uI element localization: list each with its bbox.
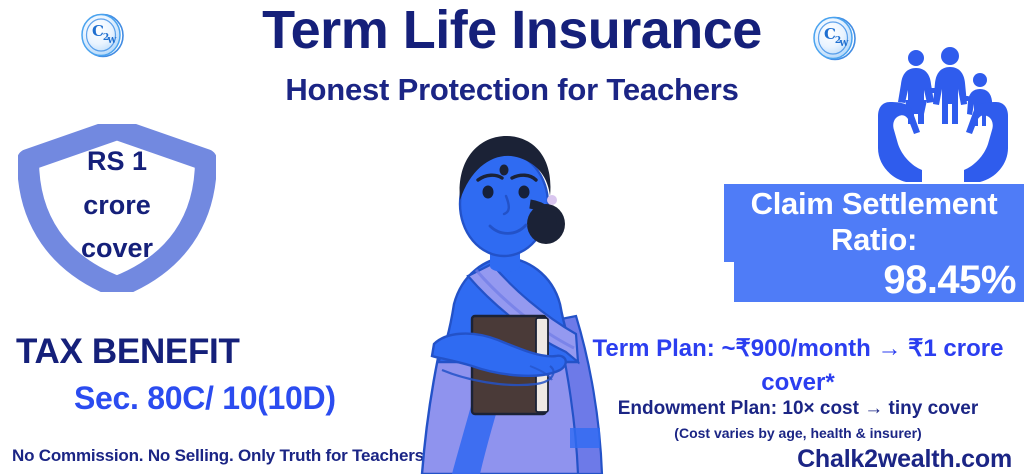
trust-tagline: No Commission. No Selling. Only Truth fo… bbox=[12, 446, 428, 466]
page-subtitle: Honest Protection for Teachers bbox=[0, 72, 1024, 108]
cover-line-3: cover bbox=[18, 227, 216, 271]
claim-settlement-label-line2: Ratio: bbox=[724, 222, 1024, 258]
chalk2wealth-logo-icon-secondary: C 2 W bbox=[808, 12, 860, 64]
cost-disclaimer-note: (Cost varies by age, health & insurer) bbox=[572, 425, 1024, 441]
cover-amount-badge: RS 1 crore cover bbox=[18, 124, 216, 292]
svg-text:W: W bbox=[107, 35, 118, 45]
cover-line-1: RS 1 bbox=[18, 140, 216, 184]
cover-line-2: crore bbox=[18, 184, 216, 228]
endowment-plan-statement: Endowment Plan: 10× cost → tiny cover bbox=[572, 398, 1024, 420]
family-in-hands-icon bbox=[872, 44, 1014, 184]
claim-settlement-label-line1: Claim Settlement bbox=[724, 186, 1024, 222]
cover-amount-text: RS 1 crore cover bbox=[18, 140, 216, 271]
claim-settlement-value: 98.45% bbox=[724, 258, 1016, 303]
tax-benefit-heading: TAX BENEFIT bbox=[16, 332, 356, 372]
poster-canvas: Term Life Insurance Honest Protection fo… bbox=[0, 0, 1024, 474]
svg-text:W: W bbox=[839, 38, 850, 48]
tax-benefit-section: Sec. 80C/ 10(10D) bbox=[74, 380, 414, 417]
chalk2wealth-logo-icon: C 2 W bbox=[76, 9, 128, 61]
website-label: Chalk2wealth.com bbox=[572, 445, 1012, 474]
term-plan-statement: Term Plan: ~₹900/month → ₹1 crore cover* bbox=[572, 332, 1024, 400]
page-title: Term Life Insurance bbox=[0, 2, 1024, 59]
